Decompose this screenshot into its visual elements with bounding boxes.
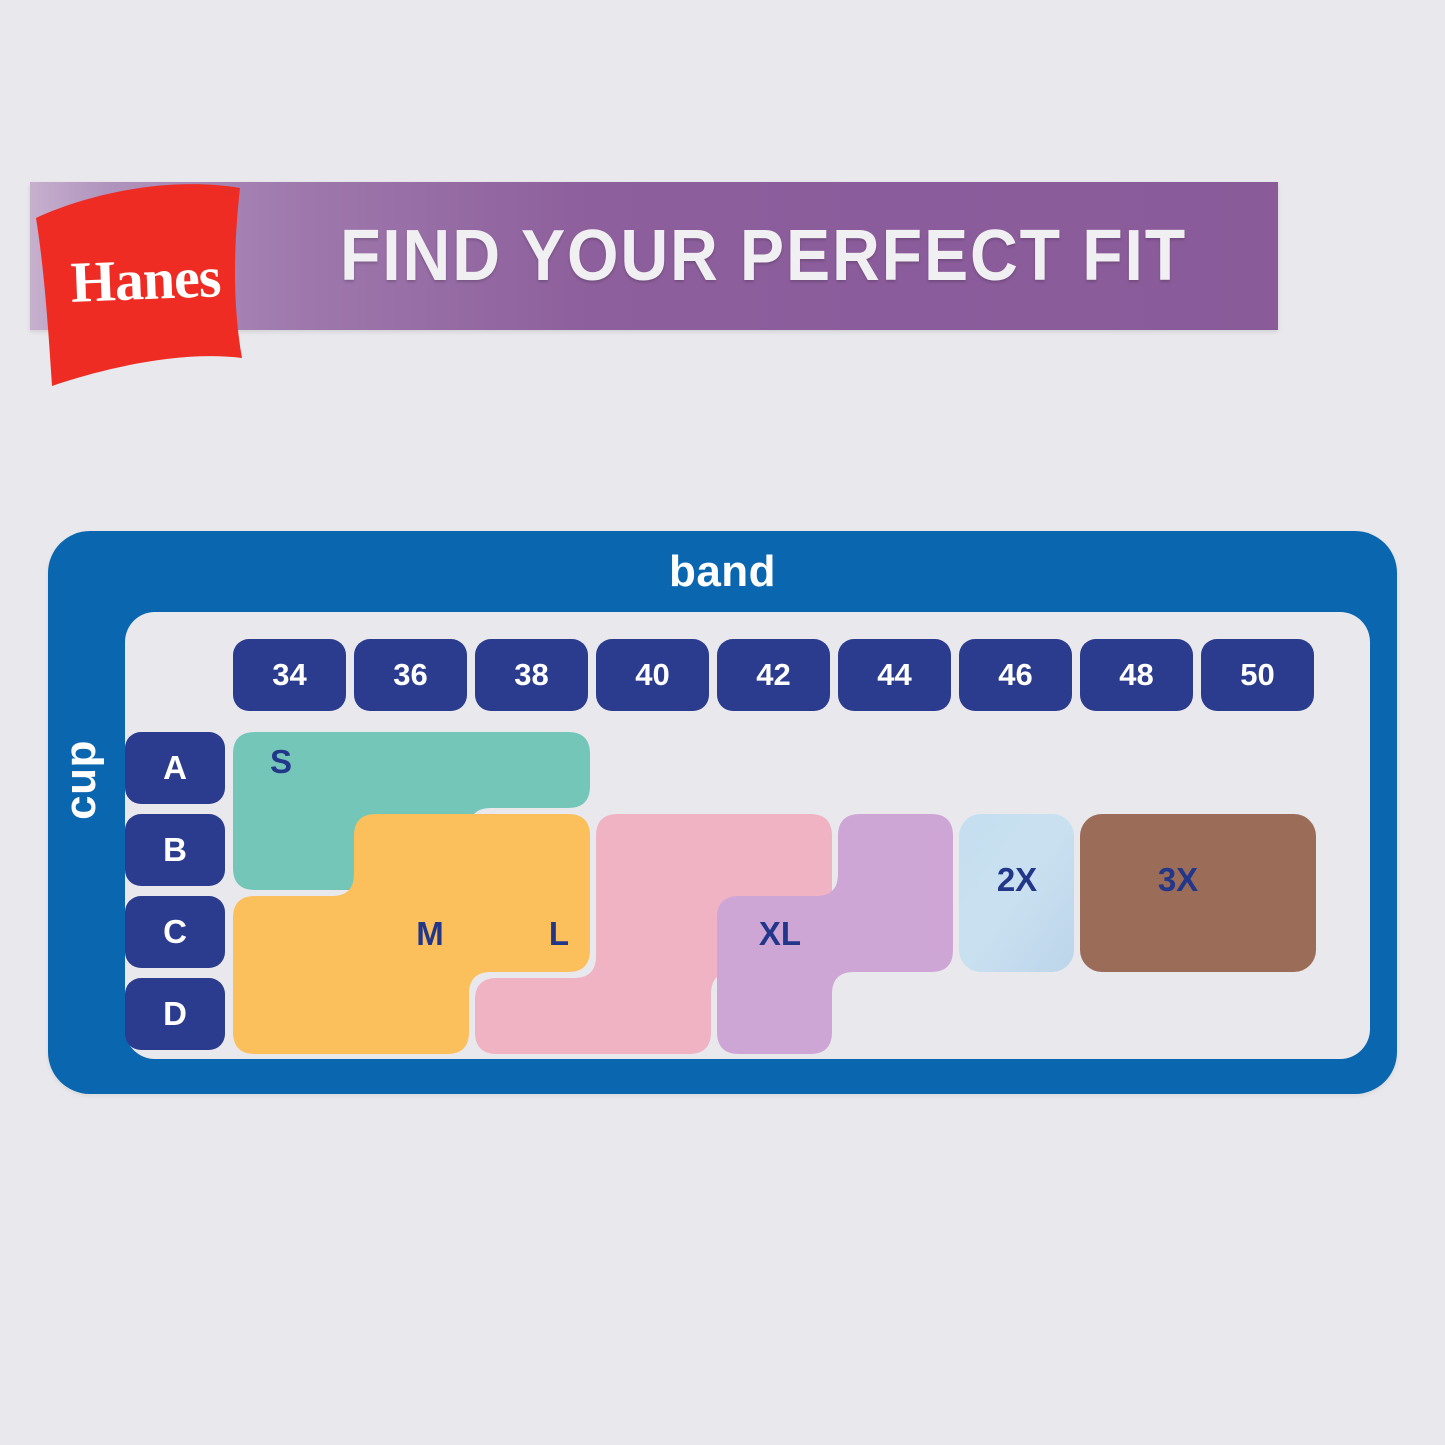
region-2X[interactable] — [959, 814, 1074, 972]
registered-trademark-icon: ® — [224, 184, 234, 199]
cup-header-B[interactable] — [125, 814, 225, 886]
logo-wordmark: Hanes — [24, 168, 267, 396]
size-chart-card: 343638404244464850ABCDSMLXL2X3X — [125, 612, 1370, 1059]
band-header-46[interactable] — [959, 639, 1072, 711]
band-header-40[interactable] — [596, 639, 709, 711]
band-header-48[interactable] — [1080, 639, 1193, 711]
header-banner: FIND YOUR PERFECT FIT Hanes ® — [0, 172, 1445, 337]
band-header-36[interactable] — [354, 639, 467, 711]
region-3X[interactable] — [1080, 814, 1316, 972]
cup-header-A[interactable] — [125, 732, 225, 804]
hanes-logo: Hanes ® — [28, 172, 263, 387]
size-chart-frame: band cup 343638404244464850ABCDSMLXL2X3X — [48, 531, 1397, 1094]
cup-axis-label: cup — [48, 710, 114, 850]
band-axis-label: band — [48, 541, 1397, 603]
band-header-50[interactable] — [1201, 639, 1314, 711]
cup-header-C[interactable] — [125, 896, 225, 968]
page-title: FIND YOUR PERFECT FIT — [340, 182, 1205, 330]
band-header-44[interactable] — [838, 639, 951, 711]
band-header-34[interactable] — [233, 639, 346, 711]
band-header-42[interactable] — [717, 639, 830, 711]
size-grid — [125, 612, 1370, 1059]
band-header-38[interactable] — [475, 639, 588, 711]
cup-header-D[interactable] — [125, 978, 225, 1050]
